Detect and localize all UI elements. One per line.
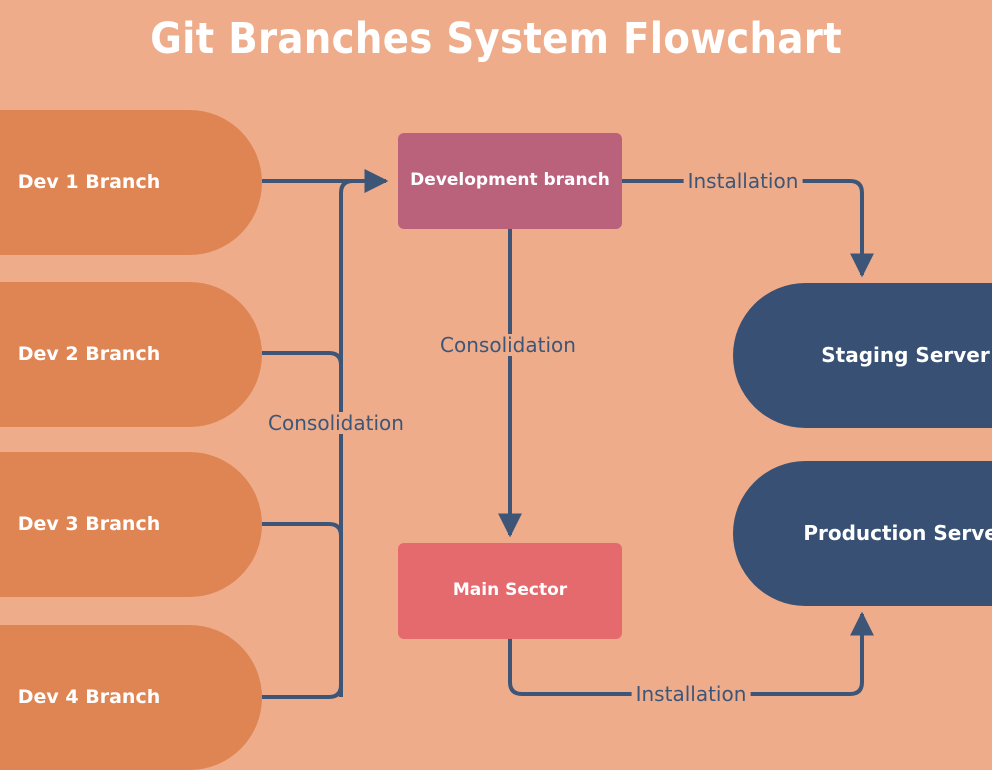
- node-dev-2-branch[interactable]: Dev 2 Branch: [0, 282, 262, 427]
- edge-dev2-to-trunk: [262, 353, 341, 365]
- node-label: Main Sector: [453, 581, 567, 601]
- node-main-sector[interactable]: Main Sector: [398, 543, 622, 639]
- edge-trunk-to-development: [341, 181, 353, 193]
- edge-label-installation-top: Installation: [684, 170, 803, 192]
- edge-development-to-staging: [622, 181, 862, 275]
- node-dev-4-branch[interactable]: Dev 4 Branch: [0, 625, 262, 770]
- node-label: Dev 1 Branch: [18, 172, 160, 194]
- node-label: Dev 3 Branch: [18, 514, 160, 536]
- edge-label-consolidation-left: Consolidation: [264, 412, 408, 434]
- node-label: Dev 4 Branch: [18, 687, 160, 709]
- flowchart-canvas: Git Branches System Flowchart: [0, 0, 992, 768]
- edge-dev4-to-trunk: [262, 685, 341, 697]
- node-production-server[interactable]: Production Server: [733, 461, 992, 606]
- edge-dev3-to-trunk: [262, 524, 341, 536]
- node-label: Staging Server: [821, 344, 989, 367]
- node-label: Development branch: [410, 171, 610, 191]
- edge-label-installation-bottom: Installation: [632, 683, 751, 705]
- node-label: Production Server: [803, 522, 992, 545]
- node-label: Dev 2 Branch: [18, 344, 160, 366]
- edge-label-consolidation-center: Consolidation: [436, 334, 580, 356]
- node-dev-1-branch[interactable]: Dev 1 Branch: [0, 110, 262, 255]
- node-development-branch[interactable]: Development branch: [398, 133, 622, 229]
- node-staging-server[interactable]: Staging Server: [733, 283, 992, 428]
- node-dev-3-branch[interactable]: Dev 3 Branch: [0, 452, 262, 597]
